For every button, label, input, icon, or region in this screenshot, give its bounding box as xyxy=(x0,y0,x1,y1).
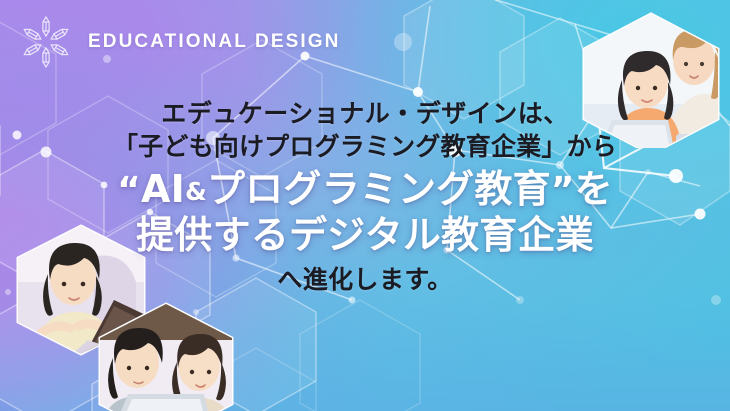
headline-line-4: 提供するデジタル教育企業 xyxy=(0,213,730,258)
promo-banner: EDUCATIONAL DESIGN xyxy=(0,0,730,411)
headline-line-3-rest: プログラミング教育 xyxy=(207,167,551,211)
headline-line-3-tail: を xyxy=(575,167,613,211)
headline-ampersand: & xyxy=(185,177,207,206)
headline-line-1: エデュケーショナル・デザインは、 xyxy=(0,98,730,130)
headline-block: エデュケーショナル・デザインは、 「子ども向けプログラミング教育企業」から “A… xyxy=(0,98,730,297)
brand-logo[interactable]: EDUCATIONAL DESIGN xyxy=(18,14,340,70)
quote-close: ” xyxy=(551,170,575,211)
photo-two-children-laptop-bottom xyxy=(92,300,240,411)
headline-ai: AI xyxy=(141,167,185,211)
flower-pencil-logo-icon xyxy=(18,14,74,70)
headline-line-2: 「子ども向けプログラミング教育企業」から xyxy=(0,131,730,163)
brand-wordmark: EDUCATIONAL DESIGN xyxy=(88,31,340,53)
headline-line-3: “AI&プログラミング教育”を xyxy=(0,167,730,212)
headline-line-5: へ進化します。 xyxy=(0,264,730,297)
quote-open: “ xyxy=(117,170,141,211)
